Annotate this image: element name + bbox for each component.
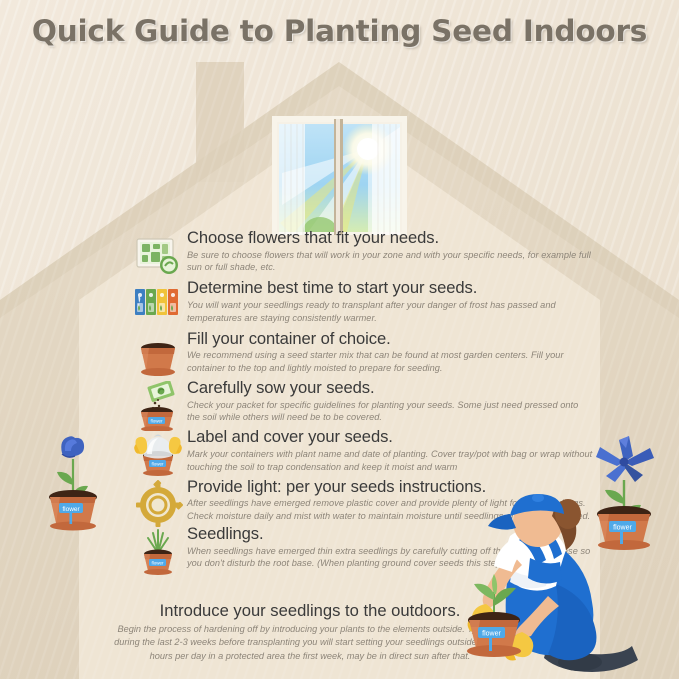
step-heading: Determine best time to start your seeds.: [187, 279, 593, 298]
step-item: Choose flowers that fit your needs. Be s…: [133, 229, 593, 274]
page-title-container: Quick Guide to Planting Seed Indoors: [0, 14, 679, 48]
footer-body: Begin the process of hardening off by in…: [110, 623, 510, 663]
footer-heading: Introduce your seedlings to the outdoors…: [110, 601, 510, 620]
seed-catalog-icon: [133, 231, 183, 281]
sunny-window-icon: [272, 113, 407, 235]
page-title: Quick Guide to Planting Seed Indoors: [0, 14, 679, 48]
step-item: Determine best time to start your seeds.…: [133, 279, 593, 324]
step-body: Be sure to choose flowers that will work…: [187, 249, 593, 275]
sowing-seeds-icon: flower: [133, 381, 183, 431]
svg-text:flower: flower: [150, 418, 163, 423]
step-item: flower Carefully sow your seeds. Check y…: [133, 379, 593, 424]
sun-light-icon: [133, 480, 183, 530]
step-heading: Label and cover your seeds.: [187, 428, 593, 447]
step-body: Mark your containers with plant name and…: [187, 448, 593, 474]
footer-section: Introduce your seedlings to the outdoors…: [110, 601, 510, 663]
step-item: flower Label and cover your seeds. Mark …: [133, 428, 593, 473]
flower-pot-left-illustration: flower: [42, 413, 104, 533]
kneeling-gardener-illustration: flower: [452, 492, 679, 679]
svg-text:flower: flower: [62, 506, 80, 513]
step-heading: Choose flowers that fit your needs.: [187, 229, 593, 248]
step-body: Check your packet for specific guideline…: [187, 399, 593, 425]
seed-packets-icon: [133, 281, 183, 331]
step-item: Fill your container of choice. We recomm…: [133, 330, 593, 375]
svg-text:flower: flower: [482, 631, 501, 638]
seedling-pot-icon: flower: [133, 527, 183, 577]
label-cover-pot-icon: flower: [133, 430, 183, 480]
svg-text:flower: flower: [151, 560, 164, 565]
step-body: You will want your seedlings ready to tr…: [187, 299, 593, 325]
step-heading: Carefully sow your seeds.: [187, 379, 593, 398]
svg-text:flower: flower: [151, 462, 164, 467]
step-heading: Fill your container of choice.: [187, 330, 593, 349]
step-body: We recommend using a seed starter mix th…: [187, 349, 593, 375]
filled-pot-icon: [133, 332, 183, 382]
